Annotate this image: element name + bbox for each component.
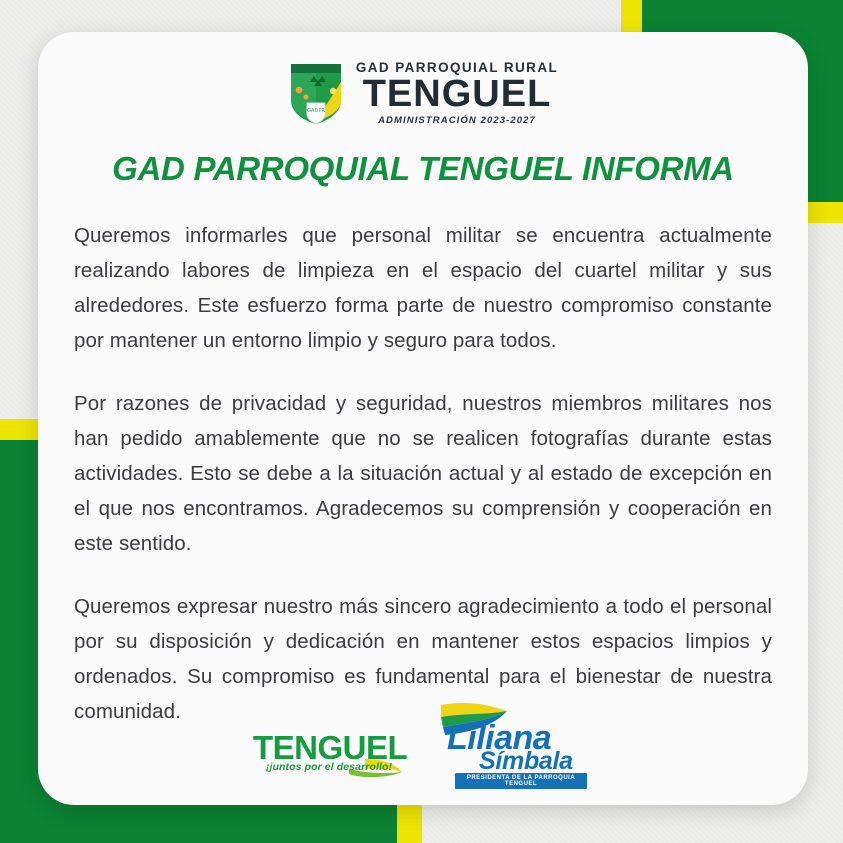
header-logo-text: GAD PARROQUIAL RURAL TENGUEL ADMINISTRAC… bbox=[356, 61, 558, 126]
tenguel-footer-tagline: ¡juntos por el desarrollo! bbox=[253, 761, 405, 773]
header-logo-line2: TENGUEL bbox=[363, 75, 552, 113]
announcement-body: Queremos informarles que personal milita… bbox=[72, 218, 774, 729]
header-logo-line1: GAD PARROQUIAL RURAL bbox=[356, 61, 558, 75]
header-logo: GADPR GAD PARROQUIAL RURAL TENGUEL ADMIN… bbox=[72, 60, 774, 126]
header-logo-line3: ADMINISTRACIÓN 2023-2027 bbox=[378, 116, 536, 126]
page-title: GAD PARROQUIAL TENGUEL INFORMA bbox=[72, 150, 774, 188]
tenguel-footer-logo: TENGUEL ¡juntos por el desarrollo! bbox=[253, 713, 405, 783]
footer-logos: TENGUEL ¡juntos por el desarrollo! Lilia… bbox=[38, 701, 808, 783]
liliana-simbala-logo: Liliana Símbala PRESIDENTA DE LA PARROQU… bbox=[433, 701, 593, 783]
liliana-subtitle: PRESIDENTA DE LA PARROQUIA TENGUEL bbox=[455, 773, 587, 789]
body-paragraph-2: Por razones de privacidad y seguridad, n… bbox=[74, 386, 772, 561]
body-paragraph-1: Queremos informarles que personal milita… bbox=[74, 218, 772, 358]
tenguel-shield-emblem-icon: GADPR bbox=[288, 60, 344, 126]
svg-text:GADPR: GADPR bbox=[307, 108, 325, 114]
announcement-card: GADPR GAD PARROQUIAL RURAL TENGUEL ADMIN… bbox=[38, 32, 808, 805]
liliana-last-name: Símbala bbox=[479, 747, 599, 776]
poster-canvas: GADPR GAD PARROQUIAL RURAL TENGUEL ADMIN… bbox=[0, 0, 843, 843]
